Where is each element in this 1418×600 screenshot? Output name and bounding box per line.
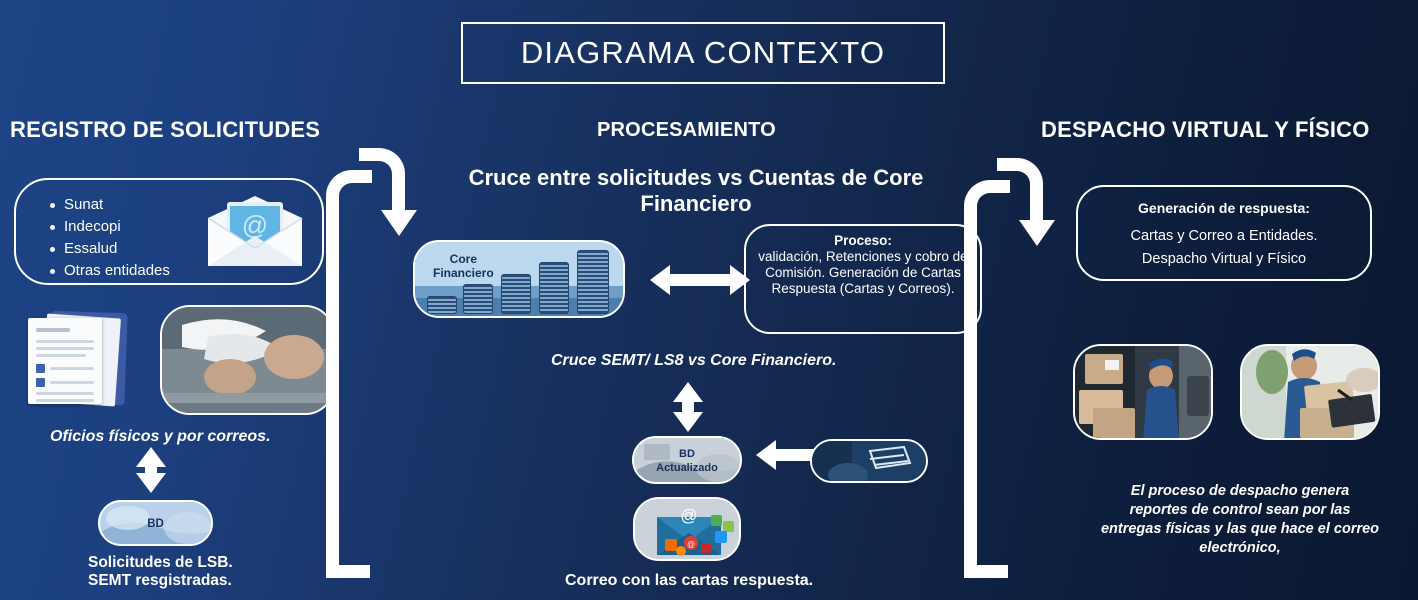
- bd-actualizado-photo: BD Actualizado: [632, 436, 742, 484]
- caption-line: SEMT resgistradas.: [88, 572, 233, 590]
- proceso-title: Proceso:: [756, 233, 970, 249]
- caption-solicitudes: Solicitudes de LSB. SEMT resgistradas.: [88, 554, 233, 590]
- column-heading-despacho: DESPACHO VIRTUAL Y FÍSICO: [1041, 117, 1370, 143]
- list-item: Otras entidades: [50, 260, 170, 282]
- respuesta-line: Despacho Virtual y Físico: [1078, 248, 1370, 271]
- email-envelope-icon: @ @: [633, 497, 741, 561]
- svg-text:@: @: [687, 540, 695, 549]
- caption-line: Solicitudes de LSB.: [88, 554, 233, 572]
- connector-left-to-middle: [326, 148, 416, 578]
- caption-oficios: Oficios físicos y por correos.: [50, 428, 271, 446]
- connector-middle-to-right: [964, 158, 1054, 578]
- page-title: DIAGRAMA CONTEXTO: [521, 35, 885, 71]
- caption-despacho: El proceso de despacho genera reportes d…: [1100, 482, 1380, 558]
- bd-database-photo: BD: [98, 500, 213, 546]
- svg-text:@: @: [242, 210, 268, 240]
- hands-reviewing-papers-photo: [160, 305, 335, 415]
- svg-text:@: @: [680, 506, 697, 525]
- proceso-body: validación, Retenciones y cobro de Comis…: [756, 249, 970, 297]
- respuesta-line: Cartas y Correo a Entidades.: [1078, 225, 1370, 248]
- proceso-box: Proceso: validación, Retenciones y cobro…: [744, 224, 982, 334]
- paper-sheet: [28, 318, 102, 404]
- respuesta-title: Generación de respuesta:: [1078, 200, 1370, 216]
- oficios-to-bd-arrow: [136, 447, 166, 493]
- list-item: Essalud: [50, 238, 170, 260]
- envelope-at-icon: @: [200, 192, 310, 272]
- middle-subtitle: Cruce entre solicitudes vs Cuentas de Co…: [428, 165, 964, 217]
- column-heading-procesamiento: PROCESAMIENTO: [597, 119, 776, 142]
- courier-delivery-signature-photo: [1240, 344, 1380, 440]
- core-financiero-label: Core Financiero: [433, 252, 494, 280]
- document-stack-icon: [22, 302, 140, 414]
- bd-actualizado-label: BD Actualizado: [634, 447, 740, 475]
- caption-cruce-semt: Cruce SEMT/ LS8 vs Core Financiero.: [551, 352, 836, 370]
- caption-correo-cartas: Correo con las cartas respuesta.: [565, 572, 813, 590]
- list-item: Sunat: [50, 194, 170, 216]
- courier-loading-van-photo: [1073, 344, 1213, 440]
- bd-label: BD: [100, 517, 211, 531]
- generacion-respuesta-box: Generación de respuesta: Cartas y Correo…: [1076, 185, 1372, 281]
- core-to-proceso-arrow: [650, 265, 750, 295]
- core-financiero-photo: Core Financiero: [413, 240, 625, 318]
- diagram-canvas: DIAGRAMA CONTEXTO REGISTRO DE SOLICITUDE…: [0, 0, 1418, 600]
- diagram-title-box: DIAGRAMA CONTEXTO: [461, 22, 945, 84]
- column-heading-registro: REGISTRO DE SOLICITUDES: [10, 117, 320, 143]
- list-item: Indecopi: [50, 216, 170, 238]
- laptop-data-photo: [810, 439, 928, 483]
- entities-list: Sunat Indecopi Essalud Otras entidades: [50, 194, 170, 282]
- cruce-to-bd-arrow: [673, 382, 703, 432]
